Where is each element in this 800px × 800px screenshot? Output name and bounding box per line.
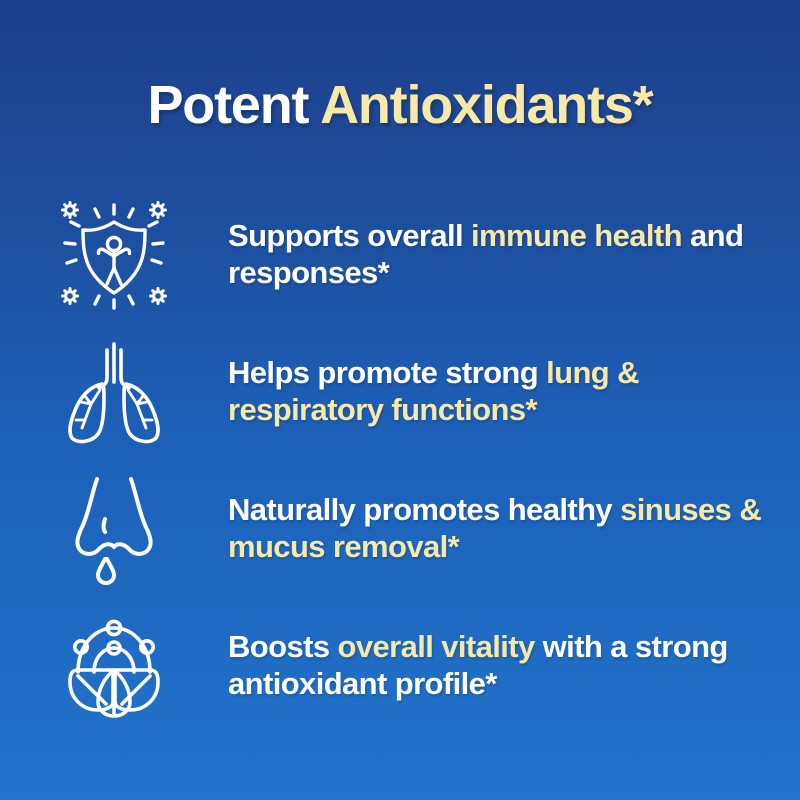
- lungs-icon: [58, 338, 170, 446]
- page-title: Potent Antioxidants*: [0, 78, 800, 132]
- title-text: Potent Antioxidants*: [147, 78, 652, 132]
- benefit-icon-cell: [0, 196, 228, 314]
- benefit-segment: Naturally promotes healthy: [228, 492, 620, 527]
- benefit-row-vitality: Boosts overall vitality with a strong an…: [0, 597, 800, 734]
- benefit-text-lung: Helps promote strong lung & respiratory …: [228, 355, 772, 428]
- benefit-text-immune: Supports overall immune health and respo…: [228, 218, 772, 291]
- benefit-icon-cell: [0, 614, 228, 718]
- antioxidant-benefits-poster: Potent Antioxidants*: [0, 0, 800, 800]
- shield-immunity-icon: [55, 196, 173, 314]
- title-part-white: Potent: [147, 75, 320, 135]
- benefit-text-cell: Naturally promotes healthy sinuses & muc…: [228, 492, 800, 565]
- benefit-segment-highlight: immune health: [471, 218, 682, 253]
- benefit-icon-cell: [0, 473, 228, 585]
- benefit-row-lung: Helps promote strong lung & respiratory …: [0, 323, 800, 460]
- benefit-text-cell: Helps promote strong lung & respiratory …: [228, 355, 800, 428]
- title-part-yellow: Antioxidants*: [320, 75, 652, 135]
- benefit-row-sinus: Naturally promotes healthy sinuses & muc…: [0, 460, 800, 597]
- benefit-icon-cell: [0, 338, 228, 446]
- benefit-text-vitality: Boosts overall vitality with a strong an…: [228, 629, 772, 702]
- benefit-segment: Boosts: [228, 629, 337, 664]
- benefit-text-cell: Boosts overall vitality with a strong an…: [228, 629, 800, 702]
- benefit-text-cell: Supports overall immune health and respo…: [228, 218, 800, 291]
- benefit-text-sinus: Naturally promotes healthy sinuses & muc…: [228, 492, 772, 565]
- benefit-list: Supports overall immune health and respo…: [0, 186, 800, 734]
- benefit-segment: Helps promote strong: [228, 355, 546, 390]
- benefit-segment: Supports overall: [228, 218, 471, 253]
- benefit-segment-highlight: overall vitality: [337, 629, 534, 664]
- nose-sinus-drip-icon: [61, 473, 167, 585]
- benefit-row-immune: Supports overall immune health and respo…: [0, 186, 800, 323]
- molecule-leaves-antioxidant-icon: [56, 614, 172, 718]
